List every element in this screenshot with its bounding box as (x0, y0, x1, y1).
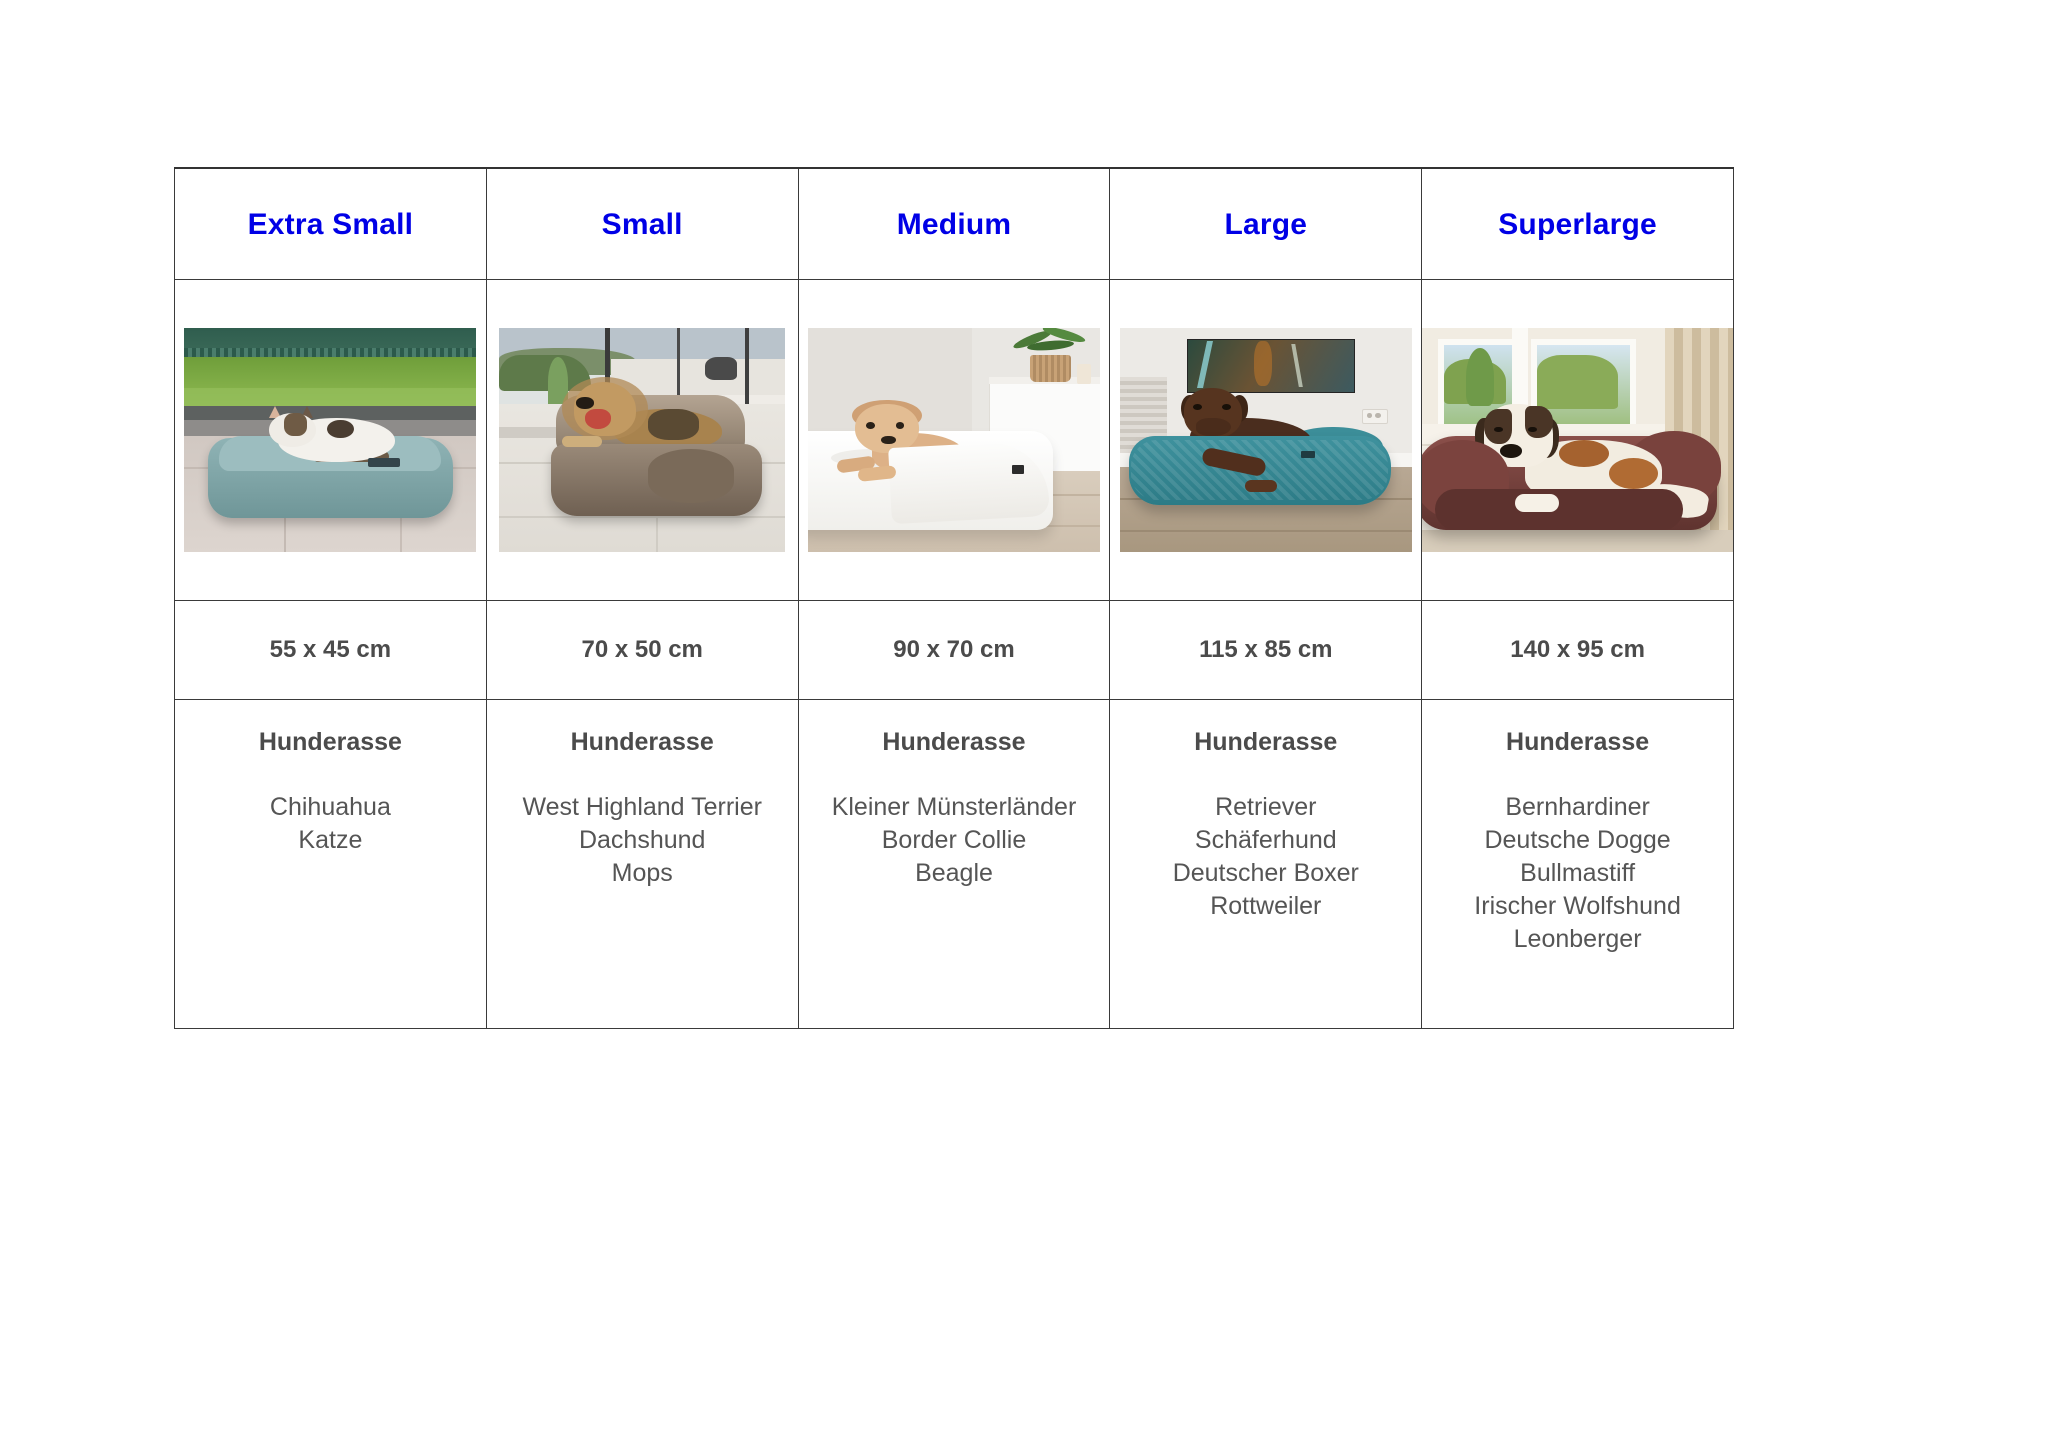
breed-heading-small: Hunderasse (487, 728, 798, 757)
list-item: Bullmastiff (1422, 857, 1733, 890)
document-page: Extra Small Small Medium Large Superlarg… (0, 0, 2048, 1448)
breed-cell-medium: Hunderasse Kleiner Münsterländer Border … (798, 700, 1110, 1029)
list-item: Deutsche Dogge (1422, 824, 1733, 857)
breed-heading-medium: Hunderasse (799, 728, 1110, 757)
dimensions-medium: 90 x 70 cm (799, 636, 1110, 664)
header-cell-superlarge: Superlarge (1422, 168, 1734, 280)
dimensions-extra-small: 55 x 45 cm (175, 636, 486, 664)
size-name-medium: Medium (799, 208, 1110, 241)
table-image-row (175, 280, 1734, 601)
photo-wrap-small (487, 280, 798, 600)
photo-terrier-on-brown-bed (499, 328, 785, 552)
dog-bed-size-table: Extra Small Small Medium Large Superlarg… (174, 167, 1734, 1029)
table-size-row: 55 x 45 cm 70 x 50 cm 90 x 70 cm 115 x 8… (175, 601, 1734, 700)
list-item: Retriever (1110, 791, 1421, 824)
list-item: Kleiner Münsterländer (799, 791, 1110, 824)
header-cell-extra-small: Extra Small (175, 168, 487, 280)
list-item: Schäferhund (1110, 824, 1421, 857)
photo-wrap-medium (799, 280, 1110, 600)
image-cell-large (1110, 280, 1422, 601)
size-cell-small: 70 x 50 cm (486, 601, 798, 700)
photo-stbernard-on-brown-bed (1422, 328, 1733, 552)
photo-labrador-on-teal-bed (1120, 328, 1412, 552)
size-name-extra-small: Extra Small (175, 208, 486, 241)
list-item: Beagle (799, 857, 1110, 890)
size-name-small: Small (487, 208, 798, 241)
list-item: Katze (175, 824, 486, 857)
list-item: Chihuahua (175, 791, 486, 824)
breed-cell-large: Hunderasse Retriever Schäferhund Deutsch… (1110, 700, 1422, 1029)
size-cell-large: 115 x 85 cm (1110, 601, 1422, 700)
size-cell-superlarge: 140 x 95 cm (1422, 601, 1734, 700)
list-item: Dachshund (487, 824, 798, 857)
photo-cat-on-blue-bed (184, 328, 476, 552)
table-header-row: Extra Small Small Medium Large Superlarg… (175, 168, 1734, 280)
list-item: Irischer Wolfshund (1422, 890, 1733, 923)
header-cell-medium: Medium (798, 168, 1110, 280)
header-cell-large: Large (1110, 168, 1422, 280)
list-item: Bernhardiner (1422, 791, 1733, 824)
size-name-large: Large (1110, 208, 1421, 241)
breed-cell-small: Hunderasse West Highland Terrier Dachshu… (486, 700, 798, 1029)
breed-list-medium: Kleiner Münsterländer Border Collie Beag… (799, 791, 1110, 890)
breed-heading-large: Hunderasse (1110, 728, 1421, 757)
image-cell-small (486, 280, 798, 601)
image-cell-superlarge (1422, 280, 1734, 601)
breed-list-superlarge: Bernhardiner Deutsche Dogge Bullmastiff … (1422, 791, 1733, 956)
breed-heading-extra-small: Hunderasse (175, 728, 486, 757)
dimensions-large: 115 x 85 cm (1110, 636, 1421, 664)
list-item: Mops (487, 857, 798, 890)
breed-heading-superlarge: Hunderasse (1422, 728, 1733, 757)
image-cell-extra-small (175, 280, 487, 601)
table-breed-row: Hunderasse Chihuahua Katze Hunderasse We… (175, 700, 1734, 1029)
list-item: Border Collie (799, 824, 1110, 857)
photo-cockapoo-on-white-bed (808, 328, 1100, 552)
breed-list-large: Retriever Schäferhund Deutscher Boxer Ro… (1110, 791, 1421, 923)
size-cell-extra-small: 55 x 45 cm (175, 601, 487, 700)
dimensions-small: 70 x 50 cm (487, 636, 798, 664)
image-cell-medium (798, 280, 1110, 601)
breed-list-extra-small: Chihuahua Katze (175, 791, 486, 857)
breed-cell-extra-small: Hunderasse Chihuahua Katze (175, 700, 487, 1029)
breed-cell-superlarge: Hunderasse Bernhardiner Deutsche Dogge B… (1422, 700, 1734, 1029)
breed-list-small: West Highland Terrier Dachshund Mops (487, 791, 798, 890)
photo-wrap-extra-small (175, 280, 486, 600)
list-item: Leonberger (1422, 923, 1733, 956)
list-item: Deutscher Boxer (1110, 857, 1421, 890)
photo-wrap-large (1110, 280, 1421, 600)
dimensions-superlarge: 140 x 95 cm (1422, 636, 1733, 664)
size-cell-medium: 90 x 70 cm (798, 601, 1110, 700)
photo-wrap-superlarge (1422, 280, 1733, 600)
list-item: Rottweiler (1110, 890, 1421, 923)
size-name-superlarge: Superlarge (1422, 208, 1733, 241)
list-item: West Highland Terrier (487, 791, 798, 824)
header-cell-small: Small (486, 168, 798, 280)
